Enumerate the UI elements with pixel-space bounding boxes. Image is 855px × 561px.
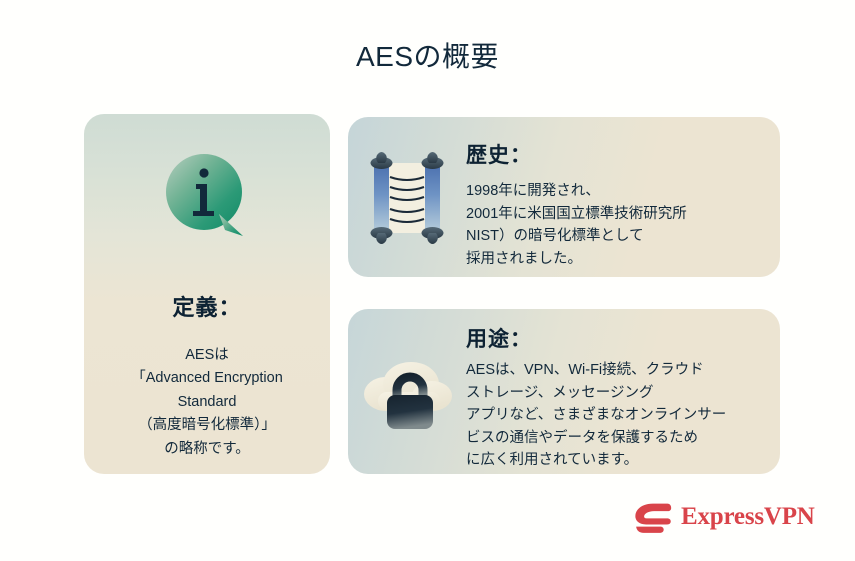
card-definition: 定義： AESは 「Advanced Encryption Standard （… (84, 114, 330, 474)
history-body-line: NIST）の暗号化標準として (466, 225, 766, 247)
history-body: 1998年に開発され、 2001年に米国国立標準技術研究所 NIST）の暗号化標… (466, 180, 766, 270)
usage-text-slot: 用途： AESは、VPN、Wi-Fi接続、クラウド ストレージ、メッセージング … (466, 309, 780, 472)
usage-body-line: AESは、VPN、Wi-Fi接続、クラウド (466, 359, 766, 381)
scroll-icon (364, 145, 450, 249)
history-icon-slot (348, 117, 466, 277)
usage-icon-slot (348, 309, 466, 474)
expressvpn-logo: ExpressVPN (632, 500, 815, 534)
definition-body: AESは 「Advanced Encryption Standard （高度暗号… (123, 344, 291, 461)
info-speech-bubble-icon (159, 150, 255, 246)
definition-body-line: AESは (131, 344, 283, 367)
usage-body-line: ストレージ、メッセージング (466, 382, 766, 404)
definition-heading: 定義： (172, 290, 241, 322)
usage-heading: 用途： (466, 327, 766, 352)
page-title: AESの概要 (0, 40, 855, 74)
definition-body-line: の略称です。 (131, 438, 283, 461)
expressvpn-wordmark: ExpressVPN (681, 503, 815, 531)
cloud-lock-icon (356, 350, 458, 434)
usage-body-line: アプリなど、さまざまなオンラインサー (466, 404, 766, 426)
history-body-line: 1998年に開発され、 (466, 180, 766, 202)
card-usage: 用途： AESは、VPN、Wi-Fi接続、クラウド ストレージ、メッセージング … (348, 309, 780, 474)
history-body-line: 2001年に米国国立標準技術研究所 (466, 203, 766, 225)
history-body-line: 採用されました。 (466, 248, 766, 270)
usage-body-line: に広く利用されています。 (466, 449, 766, 471)
definition-body-line: Standard (131, 391, 283, 414)
expressvpn-e-mark-icon (632, 500, 672, 534)
card-history: 歴史： 1998年に開発され、 2001年に米国国立標準技術研究所 NIST）の… (348, 117, 780, 277)
definition-body-line: 「Advanced Encryption (131, 367, 283, 390)
history-text-slot: 歴史： 1998年に開発され、 2001年に米国国立標準技術研究所 NIST）の… (466, 117, 780, 270)
history-heading: 歴史： (466, 143, 766, 168)
usage-body-line: ビスの通信やデータを保護するため (466, 427, 766, 449)
usage-body: AESは、VPN、Wi-Fi接続、クラウド ストレージ、メッセージング アプリな… (466, 359, 766, 471)
definition-body-line: （高度暗号化標準）」 (131, 414, 283, 437)
